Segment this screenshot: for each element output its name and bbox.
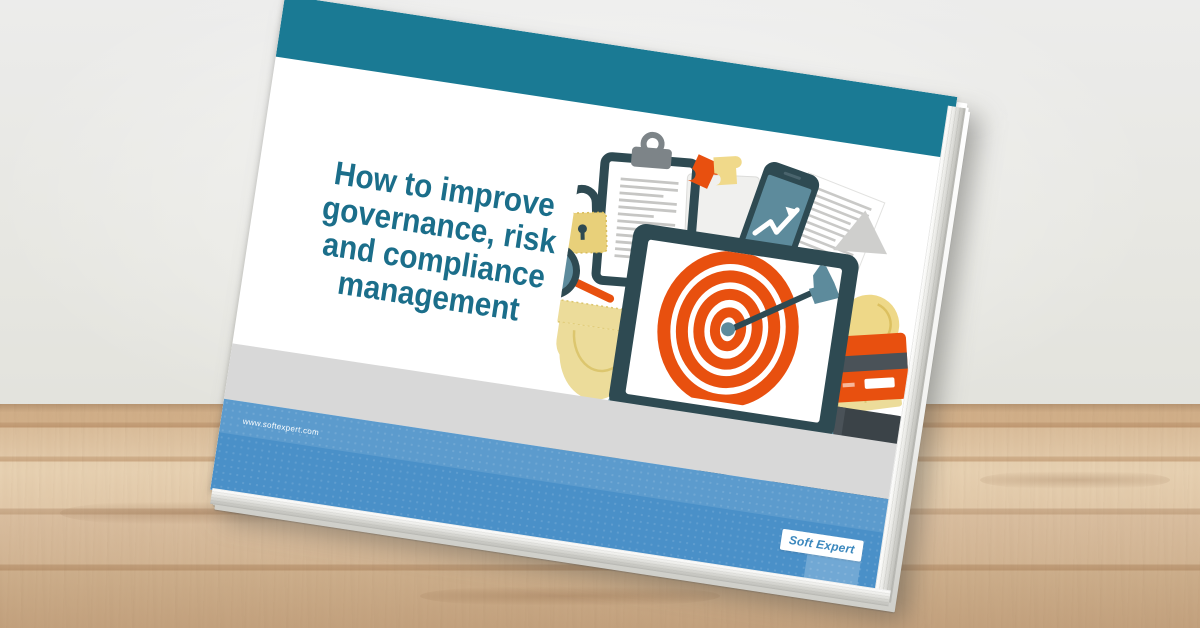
booklet-cover[interactable]: How to improve governance, risk and comp… (210, 0, 957, 591)
page-title: How to improve governance, risk and comp… (292, 151, 580, 334)
scene-root: How to improve governance, risk and comp… (0, 0, 1200, 628)
booklet[interactable]: How to improve governance, risk and comp… (209, 0, 968, 603)
